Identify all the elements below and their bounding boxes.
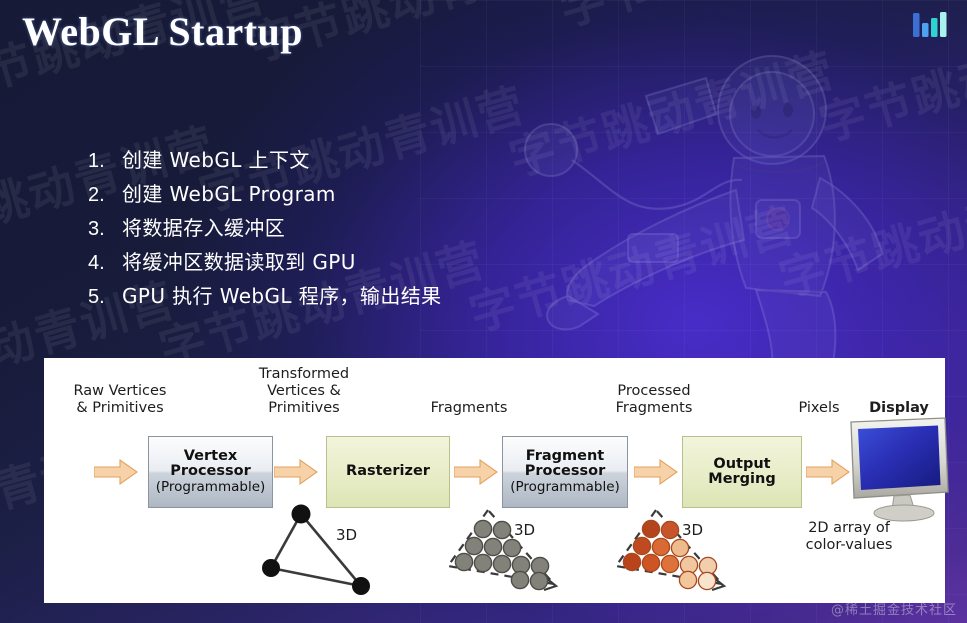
graphics-pipeline-diagram: Raw Vertices & Primitives Transformed Ve… xyxy=(44,358,945,603)
bullet-list: 1. 创建 WebGL 上下文 2. 创建 WebGL Program 3. 将… xyxy=(88,144,442,314)
list-item: 5. GPU 执行 WebGL 程序，输出结果 xyxy=(88,280,442,309)
list-item-number: 4. xyxy=(88,252,122,275)
stage-note: (Programmable) xyxy=(156,480,266,496)
arrow-icon xyxy=(634,458,678,486)
list-item-label: GPU 执行 WebGL 程序，输出结果 xyxy=(122,280,442,309)
slide-root: 字节跳动青训营 字节跳动青训营 字节跳动青训营 字节跳动青训营 字节跳动青训营 … xyxy=(0,0,967,623)
stage-note: (Programmable) xyxy=(510,480,620,496)
list-item: 3. 将数据存入缓冲区 xyxy=(88,212,442,241)
list-item: 4. 将缓冲区数据读取到 GPU xyxy=(88,246,442,275)
list-item-label: 创建 WebGL 上下文 xyxy=(122,144,310,173)
list-item-label: 创建 WebGL Program xyxy=(122,178,336,207)
shaded-fragments-triangle-illustration xyxy=(604,498,739,598)
stage-title-2: Merging xyxy=(708,472,775,488)
list-item-number: 5. xyxy=(88,286,122,309)
list-item-label: 将缓冲区数据读取到 GPU xyxy=(122,246,356,275)
stage-title: Fragment xyxy=(526,449,605,465)
astronaut-illustration xyxy=(520,38,920,368)
stage-title: Output xyxy=(713,457,770,473)
raw-fragments-triangle-illustration xyxy=(436,498,571,598)
stage-title-2: Processor xyxy=(170,464,251,480)
list-item-label: 将数据存入缓冲区 xyxy=(122,212,285,241)
vertex-triangle-illustration xyxy=(249,498,379,598)
list-item-number: 1. xyxy=(88,150,122,173)
caption-raw-vertices: Raw Vertices & Primitives xyxy=(50,383,190,417)
caption-transformed-vertices: Transformed Vertices & Primitives xyxy=(234,366,374,417)
stage-title-2: Processor xyxy=(525,464,606,480)
arrow-icon xyxy=(454,458,498,486)
list-item: 1. 创建 WebGL 上下文 xyxy=(88,144,442,173)
list-item-number: 3. xyxy=(88,218,122,241)
display-monitor-icon xyxy=(844,416,954,526)
stage-title: Rasterizer xyxy=(346,464,430,480)
list-item-number: 2. xyxy=(88,184,122,207)
bar-chart-logo xyxy=(912,9,950,41)
caption-processed-fragments: Processed Fragments xyxy=(584,383,724,417)
stage-title: Vertex xyxy=(184,449,238,465)
caption-display: Display xyxy=(844,400,954,417)
watermark-text: 字节跳动青训营 xyxy=(811,0,967,5)
page-title: WebGL Startup xyxy=(22,8,303,55)
arrow-icon xyxy=(274,458,318,486)
list-item: 2. 创建 WebGL Program xyxy=(88,178,442,207)
watermark-text: 字节跳动青训营 xyxy=(551,0,892,40)
caption-fragments: Fragments xyxy=(414,400,524,417)
corner-watermark: @稀土掘金技术社区 xyxy=(831,599,957,618)
arrow-icon xyxy=(94,458,138,486)
